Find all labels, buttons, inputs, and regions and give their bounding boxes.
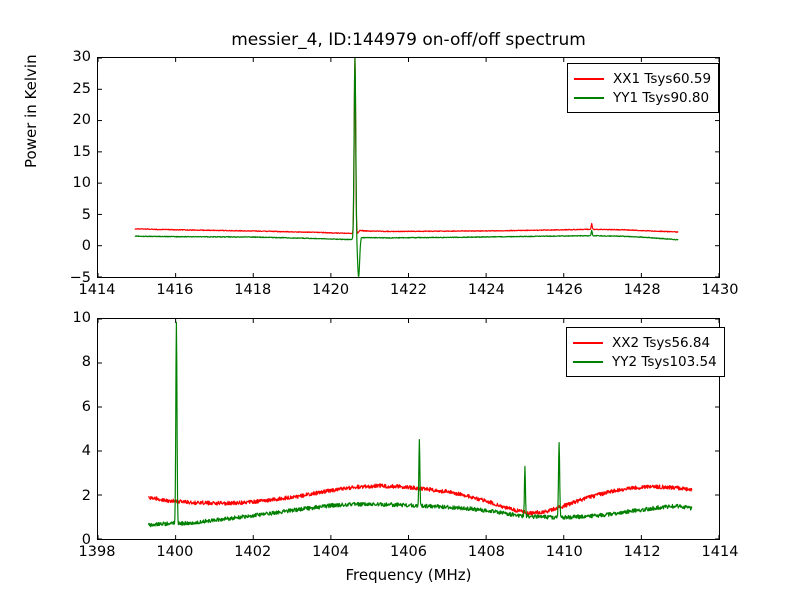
bottom-panel-legend: XX2 Tsys56.84YY2 Tsys103.54 [566,327,725,377]
x-tick-label: 1404 [312,544,349,560]
x-tick-label: 1398 [79,544,116,560]
legend-label: YY1 Tsys90.80 [613,90,709,106]
top-panel-legend: XX1 Tsys60.59YY1 Tsys90.80 [567,63,719,113]
top-panel-y-axis-label: Power in Kelvin [22,54,40,168]
x-tick-label: 1410 [546,544,583,560]
y-tick-label: 5 [82,207,91,223]
x-tick-label: 1406 [390,544,427,560]
x-tick-label: 1414 [79,282,116,298]
legend-entry: YY1 Tsys90.80 [574,88,711,107]
bottom-panel-x-tick-labels: 139814001402140414061408141014121414 [97,544,720,564]
legend-label: XX2 Tsys56.84 [612,335,710,351]
legend-color-swatch [573,342,603,344]
legend-entry: YY2 Tsys103.54 [573,352,717,371]
legend-entry: XX1 Tsys60.59 [574,69,711,88]
bottom-panel-y-tick-labels: 0246810 [31,318,91,540]
x-tick-label: 1430 [702,282,739,298]
legend-color-swatch [574,97,604,99]
figure-canvas: messier_4, ID:144979 on-off/off spectrum… [0,0,800,600]
y-tick-label: 30 [73,49,91,65]
x-tick-label: 1418 [234,282,271,298]
y-tick-label: 10 [73,310,91,326]
legend-label: YY2 Tsys103.54 [612,354,717,370]
x-tick-label: 1422 [390,282,427,298]
x-tick-label: 1408 [468,544,505,560]
x-tick-label: 1402 [234,544,271,560]
x-tick-label: 1416 [156,282,193,298]
x-tick-label: 1420 [312,282,349,298]
figure-title: messier_4, ID:144979 on-off/off spectrum [97,30,720,50]
legend-color-swatch [574,78,604,80]
x-tick-label: 1412 [624,544,661,560]
legend-label: XX1 Tsys60.59 [613,71,711,87]
y-tick-label: 25 [73,81,91,97]
y-tick-label: 6 [82,399,91,415]
x-tick-label: 1428 [624,282,661,298]
x-tick-label: 1400 [156,544,193,560]
y-tick-label: 15 [73,144,91,160]
y-tick-label: 4 [82,443,91,459]
y-tick-label: 8 [82,354,91,370]
y-tick-label: 20 [73,112,91,128]
top-panel-y-tick-labels: −5051015202530 [31,57,91,278]
y-tick-label: 2 [82,488,91,504]
x-tick-label: 1426 [546,282,583,298]
y-tick-label: 0 [82,238,91,254]
legend-entry: XX2 Tsys56.84 [573,333,717,352]
bottom-panel-x-axis-label: Frequency (MHz) [97,566,720,584]
legend-color-swatch [573,361,603,363]
x-tick-label: 1424 [468,282,505,298]
x-tick-label: 1414 [702,544,739,560]
y-tick-label: 10 [73,175,91,191]
top-panel-x-tick-labels: 141414161418142014221424142614281430 [97,282,720,302]
